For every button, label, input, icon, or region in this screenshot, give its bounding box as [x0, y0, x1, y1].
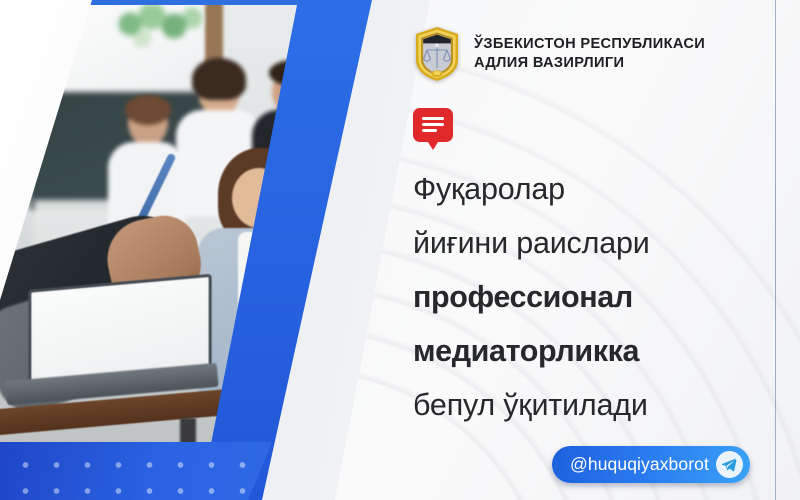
telegram-handle-badge[interactable]: @huquqiyaxborot: [552, 446, 750, 483]
promotional-banner: ЎЗБЕКИСТОН РЕСПУБЛИКАСИ АДЛИЯ ВАЗИРЛИГИ …: [0, 0, 800, 500]
dotted-blue-block: [0, 442, 290, 500]
uzbekistan-justice-ministry-emblem: [413, 26, 461, 82]
speech-bubble-icon: [413, 108, 453, 142]
headline-line-4: медиаторликка: [413, 324, 793, 378]
brand-lockup: ЎЗБЕКИСТОН РЕСПУБЛИКАСИ АДЛИЯ ВАЗИРЛИГИ: [413, 26, 793, 82]
headline-line-3: профессионал: [413, 270, 793, 324]
telegram-icon: [716, 451, 743, 478]
headline-line-5: бепул ўқитилади: [413, 378, 793, 432]
headline-block: Фуқаролар йиғини раислари профессионал м…: [413, 162, 793, 432]
content-column: ЎЗБЕКИСТОН РЕСПУБЛИКАСИ АДЛИЯ ВАЗИРЛИГИ …: [413, 0, 793, 500]
plant-decor: [112, 4, 204, 48]
ministry-name: ЎЗБЕКИСТОН РЕСПУБЛИКАСИ АДЛИЯ ВАЗИРЛИГИ: [474, 35, 705, 74]
headline-line-1: Фуқаролар: [413, 162, 793, 216]
telegram-handle-label: @huquqiyaxborot: [570, 454, 709, 475]
headline-line-2: йиғини раислари: [413, 216, 793, 270]
